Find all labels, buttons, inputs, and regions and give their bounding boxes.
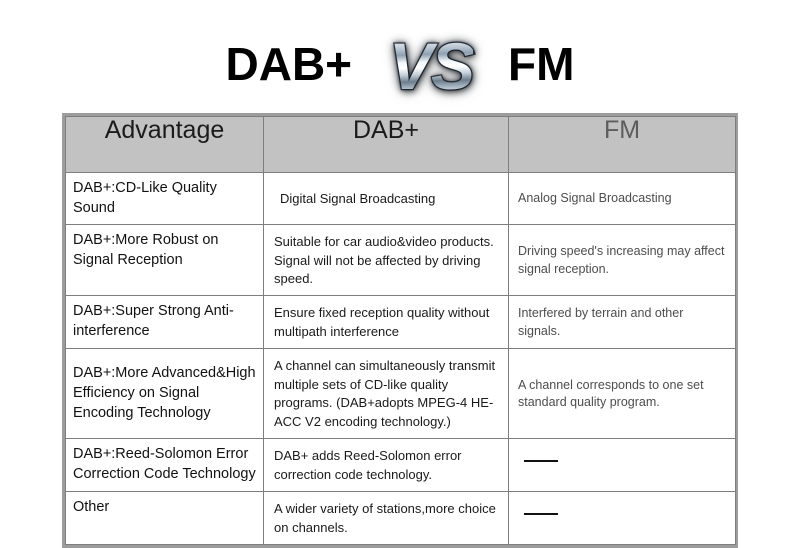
cell-dab: Suitable for car audio&video products. S… bbox=[264, 225, 509, 296]
table-row: DAB+:Reed-Solomon Error Correction Code … bbox=[66, 439, 736, 492]
versus-label: VS bbox=[389, 33, 473, 99]
cell-advantage: DAB+:Super Strong Anti-interference bbox=[66, 296, 264, 349]
column-header-dab: DAB+ bbox=[264, 117, 509, 173]
cell-dab: DAB+ adds Reed-Solomon error correction … bbox=[264, 439, 509, 492]
versus-graphic: VS VS bbox=[370, 26, 492, 106]
title-fm-label: FM bbox=[508, 41, 574, 91]
cell-advantage: Other bbox=[66, 492, 264, 545]
table-row: DAB+:Super Strong Anti-interference Ensu… bbox=[66, 296, 736, 349]
cell-dab: A channel can simultaneously transmit mu… bbox=[264, 349, 509, 439]
title-dab-label: DAB+ bbox=[226, 41, 353, 91]
table-row: DAB+:CD-Like Quality Sound Digital Signa… bbox=[66, 173, 736, 225]
column-header-advantage-label: Advantage bbox=[105, 116, 225, 144]
placeholder-dash-icon bbox=[524, 460, 558, 462]
cell-dab: Ensure fixed reception quality without m… bbox=[264, 296, 509, 349]
cell-advantage: DAB+:Reed-Solomon Error Correction Code … bbox=[66, 439, 264, 492]
cell-advantage: DAB+:More Advanced&High Efficiency on Si… bbox=[66, 349, 264, 439]
column-header-fm: FM bbox=[509, 117, 736, 173]
table-row: DAB+:More Robust on Signal Reception Sui… bbox=[66, 225, 736, 296]
table-body: DAB+:CD-Like Quality Sound Digital Signa… bbox=[66, 173, 736, 545]
cell-fm-empty bbox=[509, 439, 736, 492]
cell-advantage: DAB+:More Robust on Signal Reception bbox=[66, 225, 264, 296]
cell-fm-empty bbox=[509, 492, 736, 545]
cell-fm: Interfered by terrain and other signals. bbox=[509, 296, 736, 349]
column-header-fm-label: FM bbox=[604, 116, 640, 144]
cell-fm: A channel corresponds to one set standar… bbox=[509, 349, 736, 439]
cell-advantage: DAB+:CD-Like Quality Sound bbox=[66, 173, 264, 225]
cell-dab: A wider variety of stations,more choice … bbox=[264, 492, 509, 545]
column-header-advantage: Advantage bbox=[66, 117, 264, 173]
comparison-table-frame: Advantage DAB+ FM DAB+:CD-Like Quality S… bbox=[62, 113, 738, 548]
placeholder-dash-icon bbox=[524, 513, 558, 515]
title-banner: DAB+ VS VS FM bbox=[0, 26, 800, 106]
table-row: Other A wider variety of stations,more c… bbox=[66, 492, 736, 545]
table-row: DAB+:More Advanced&High Efficiency on Si… bbox=[66, 349, 736, 439]
comparison-table: Advantage DAB+ FM DAB+:CD-Like Quality S… bbox=[65, 116, 736, 545]
cell-dab: Digital Signal Broadcasting bbox=[264, 173, 509, 225]
table-header: Advantage DAB+ FM bbox=[66, 117, 736, 173]
cell-fm: Driving speed's increasing may affect si… bbox=[509, 225, 736, 296]
column-header-dab-label: DAB+ bbox=[353, 116, 419, 144]
table-header-row: Advantage DAB+ FM bbox=[66, 117, 736, 173]
cell-fm: Analog Signal Broadcasting bbox=[509, 173, 736, 225]
